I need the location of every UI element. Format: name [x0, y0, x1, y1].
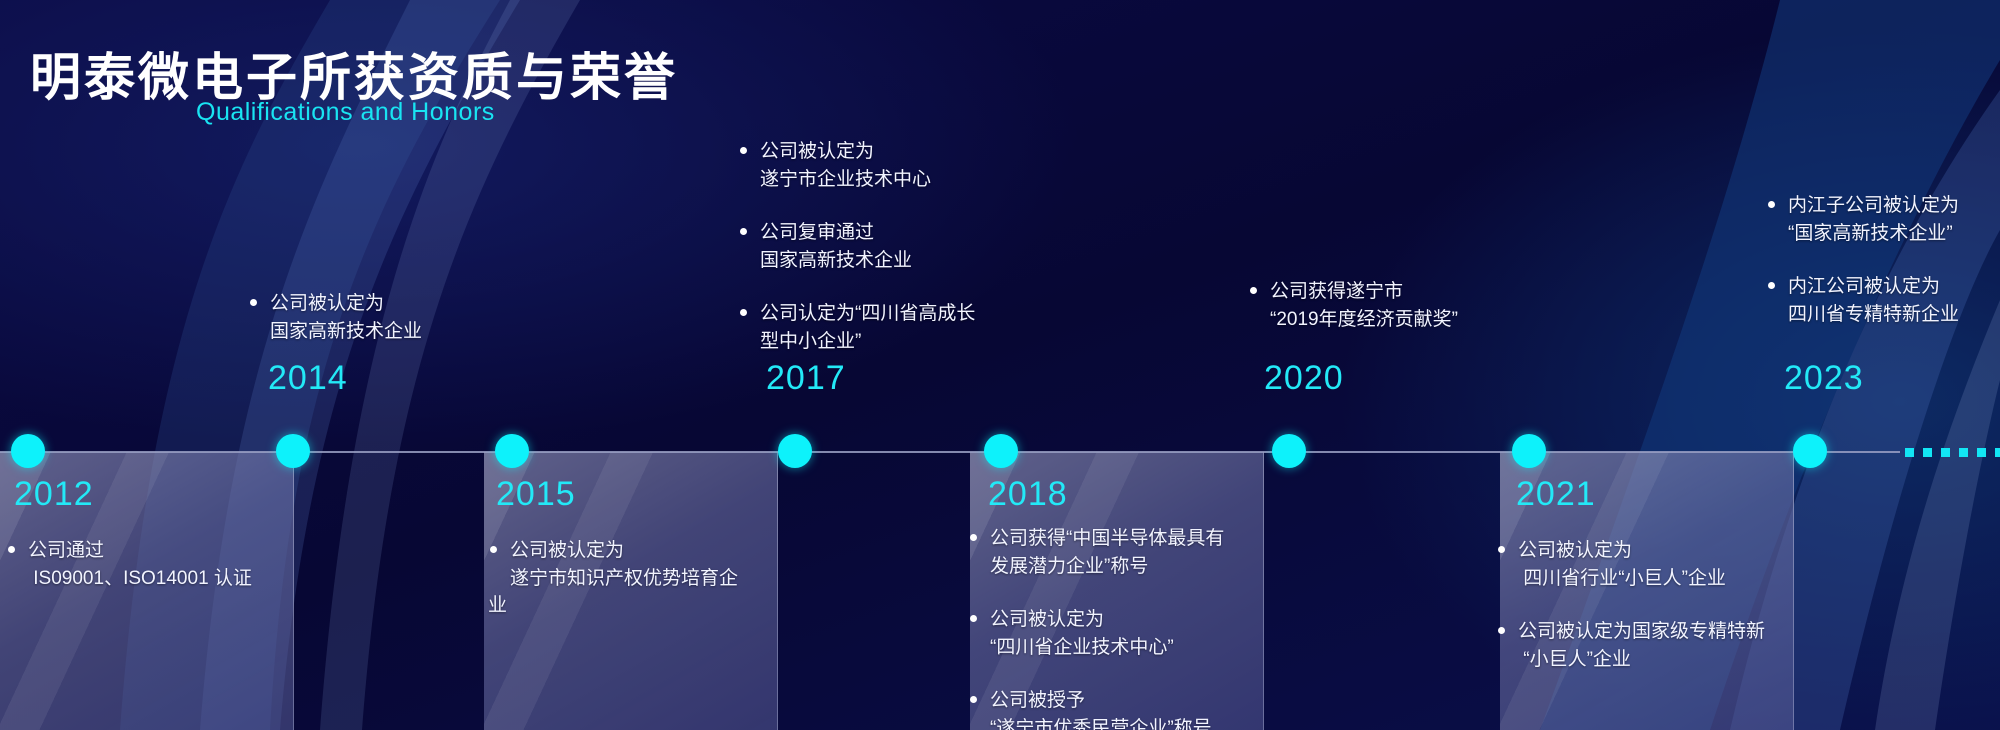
- item-line: 四川省专精特新企业: [1788, 301, 2000, 329]
- milestone-items-2020: 公司获得遂宁市 “2019年度经济贡献奖”: [1248, 278, 1578, 333]
- year-label-2020: 2020: [1264, 359, 1344, 398]
- axis-dash: [1905, 448, 1914, 457]
- list-item: 公司获得“中国半导体最具有 发展潜力企业”称号: [968, 525, 1298, 580]
- milestone-items-2017: 公司被认定为 遂宁市企业技术中心 公司复审通过 国家高新技术企业 公司认定为“四…: [738, 138, 1068, 355]
- timeline-dot-2012[interactable]: [11, 434, 45, 468]
- bullet-dot-icon: [490, 546, 497, 553]
- list-item: 公司被认定为国家级专精特新 “小巨人”企业: [1496, 618, 1836, 673]
- timeline-dot-2023[interactable]: [1793, 434, 1827, 468]
- item-line: 公司被认定为: [510, 537, 788, 565]
- year-label-2015: 2015: [496, 475, 576, 514]
- list-item: 内江子公司被认定为 “国家高新技术企业”: [1766, 192, 2000, 247]
- milestone-items-2015: 公司被认定为 遂宁市知识产权优势培育企 业: [488, 537, 788, 620]
- item-line: “国家高新技术企业”: [1788, 220, 2000, 248]
- item-line: 业: [488, 592, 788, 620]
- timeline-dot-2015[interactable]: [495, 434, 529, 468]
- year-label-2018: 2018: [988, 475, 1068, 514]
- item-line: 公司获得“中国半导体最具有: [990, 525, 1298, 553]
- timeline-dot-2020[interactable]: [1272, 434, 1306, 468]
- item-line: “遂宁市优秀民营企业”称号: [990, 715, 1298, 730]
- bullet-dot-icon: [740, 309, 747, 316]
- year-label-2012: 2012: [14, 475, 94, 514]
- bullet-dot-icon: [740, 147, 747, 154]
- list-item: 公司被认定为 遂宁市知识产权优势培育企 业: [488, 537, 788, 620]
- item-line: 国家高新技术企业: [760, 247, 1068, 275]
- milestone-items-2012: 公司通过 IS09001、ISO14001 认证: [6, 537, 296, 592]
- milestone-items-2014: 公司被认定为 国家高新技术企业: [248, 290, 548, 345]
- page-subtitle: Qualifications and Honors: [196, 98, 495, 127]
- milestone-items-2021: 公司被认定为 四川省行业“小巨人”企业 公司被认定为国家级专精特新 “小巨人”企…: [1496, 537, 1836, 673]
- list-item: 公司被授予 “遂宁市优秀民营企业”称号: [968, 687, 1298, 730]
- axis-dash: [1959, 448, 1968, 457]
- item-line: 四川省行业“小巨人”企业: [1518, 565, 1836, 593]
- timeline-dot-2018[interactable]: [984, 434, 1018, 468]
- timeline-infographic: 明泰微电子所获资质与荣誉 Qualifications and Honors 2…: [0, 0, 2000, 730]
- item-line: 公司被认定为: [990, 606, 1298, 634]
- bullet-dot-icon: [1498, 627, 1505, 634]
- list-item: 公司被认定为 遂宁市企业技术中心: [738, 138, 1068, 193]
- year-label-2023: 2023: [1784, 359, 1864, 398]
- item-line: 公司复审通过: [760, 219, 1068, 247]
- item-line: 公司被认定为: [1518, 537, 1836, 565]
- axis-dash: [1941, 448, 1950, 457]
- item-line: 遂宁市知识产权优势培育企: [510, 565, 788, 593]
- list-item: 公司被认定为 “四川省企业技术中心”: [968, 606, 1298, 661]
- item-line: “四川省企业技术中心”: [990, 634, 1298, 662]
- milestone-items-2023: 内江子公司被认定为 “国家高新技术企业” 内江公司被认定为 四川省专精特新企业: [1766, 192, 2000, 328]
- bullet-dot-icon: [1768, 282, 1775, 289]
- list-item: 公司被认定为 四川省行业“小巨人”企业: [1496, 537, 1836, 592]
- axis-dash: [1995, 448, 2000, 457]
- year-label-2014: 2014: [268, 359, 348, 398]
- item-line: 公司被认定为: [270, 290, 548, 318]
- milestone-items-2018: 公司获得“中国半导体最具有 发展潜力企业”称号 公司被认定为 “四川省企业技术中…: [968, 525, 1298, 730]
- timeline-dot-2017[interactable]: [778, 434, 812, 468]
- bullet-dot-icon: [1768, 201, 1775, 208]
- list-item: 公司通过 IS09001、ISO14001 认证: [6, 537, 296, 592]
- item-line: 遂宁市企业技术中心: [760, 166, 1068, 194]
- bullet-dot-icon: [970, 696, 977, 703]
- year-label-2021: 2021: [1516, 475, 1596, 514]
- bullet-dot-icon: [740, 228, 747, 235]
- axis-dash: [1977, 448, 1986, 457]
- item-line: 内江子公司被认定为: [1788, 192, 2000, 220]
- axis-dash: [1923, 448, 1932, 457]
- item-line: 公司被认定为: [760, 138, 1068, 166]
- list-item: 公司被认定为 国家高新技术企业: [248, 290, 548, 345]
- item-line: 国家高新技术企业: [270, 318, 548, 346]
- item-line: “小巨人”企业: [1518, 646, 1836, 674]
- item-line: 公司认定为“四川省高成长: [760, 300, 1068, 328]
- list-item: 内江公司被认定为 四川省专精特新企业: [1766, 273, 2000, 328]
- item-line: 型中小企业”: [760, 328, 1068, 356]
- item-line: 发展潜力企业”称号: [990, 553, 1298, 581]
- list-item: 公司认定为“四川省高成长 型中小企业”: [738, 300, 1068, 355]
- item-line: 内江公司被认定为: [1788, 273, 2000, 301]
- bullet-dot-icon: [8, 546, 15, 553]
- item-line: 公司被认定为国家级专精特新: [1518, 618, 1836, 646]
- item-line: 公司被授予: [990, 687, 1298, 715]
- bullet-dot-icon: [970, 615, 977, 622]
- item-line: IS09001、ISO14001 认证: [28, 565, 296, 593]
- item-line: “2019年度经济贡献奖”: [1270, 306, 1578, 334]
- year-label-2017: 2017: [766, 359, 846, 398]
- item-line: 公司获得遂宁市: [1270, 278, 1578, 306]
- timeline-dot-2021[interactable]: [1512, 434, 1546, 468]
- bullet-dot-icon: [970, 534, 977, 541]
- timeline-axis-end-dashes: [1905, 448, 2000, 457]
- bullet-dot-icon: [1498, 546, 1505, 553]
- bullet-dot-icon: [1250, 287, 1257, 294]
- timeline-dot-2014[interactable]: [276, 434, 310, 468]
- item-line: 公司通过: [28, 537, 296, 565]
- list-item: 公司获得遂宁市 “2019年度经济贡献奖”: [1248, 278, 1578, 333]
- list-item: 公司复审通过 国家高新技术企业: [738, 219, 1068, 274]
- bullet-dot-icon: [250, 299, 257, 306]
